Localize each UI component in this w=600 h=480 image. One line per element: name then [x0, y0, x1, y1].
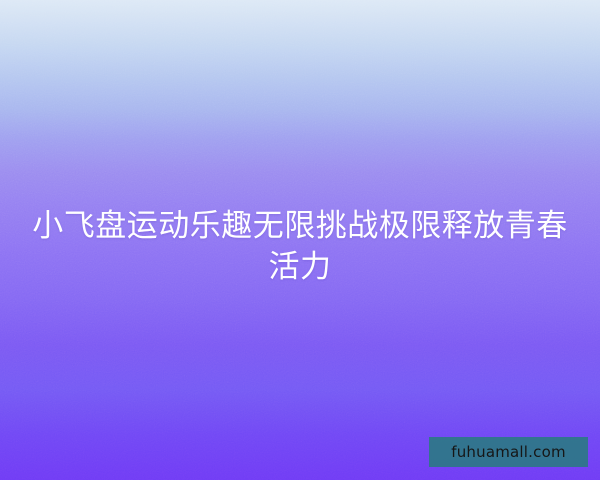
watermark-badge: fuhuamall.com — [429, 437, 588, 467]
headline-text: 小飞盘运动乐趣无限挑战极限释放青春活力 — [0, 206, 600, 288]
watermark-label: fuhuamall.com — [451, 445, 566, 460]
banner-canvas: 小飞盘运动乐趣无限挑战极限释放青春活力 fuhuamall.com — [0, 0, 600, 480]
